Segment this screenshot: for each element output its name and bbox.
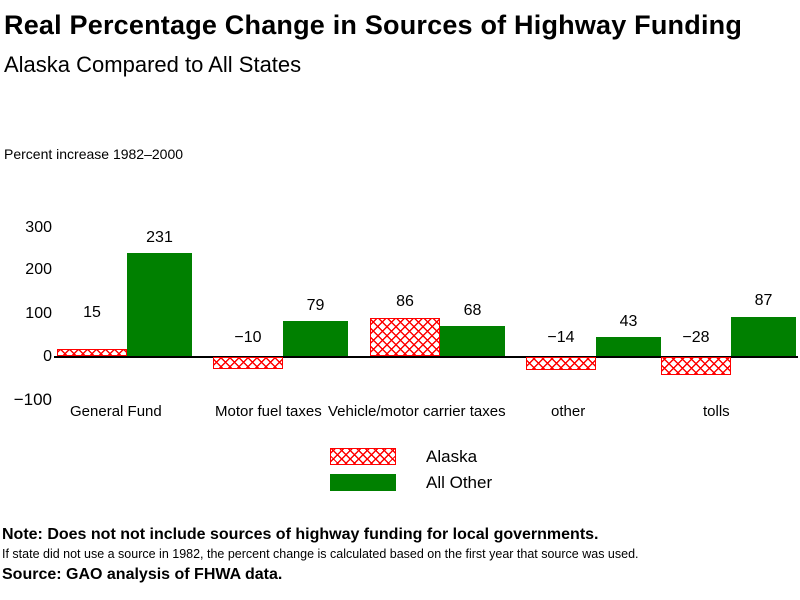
bar-value-alaska-general-fund: 15 [57,305,127,321]
bar-value-alaska-tolls: −28 [661,330,731,346]
cat-label-vehicle-motor-carrier-taxes: Vehicle/motor carrier taxes [328,403,506,421]
bar-value-all-other-other: 43 [596,314,661,330]
bar-value-alaska-vehicle-motor-carrier-taxes: 86 [370,294,440,310]
legend-label-alaska: Alaska [426,447,477,467]
x-axis-category-labels: General Fund Motor fuel taxes Vehicle/mo… [0,403,800,425]
bar-value-all-other-motor-fuel-taxes: 79 [283,298,348,314]
footnote-detail: If state did not use a source in 1982, t… [2,545,800,564]
footnote-source: Source: GAO analysis of FHWA data. [2,564,800,585]
bar-all-other-vehicle-motor-carrier-taxes [440,326,505,356]
bar-all-other-other [596,337,661,356]
footnotes: Note: Does not not include sources of hi… [2,524,800,585]
bar-all-other-tolls [731,317,796,356]
page-title: Real Percentage Change in Sources of Hig… [4,10,742,41]
cat-label-other: other [551,403,585,421]
bar-value-all-other-general-fund: 231 [127,230,192,246]
cat-label-tolls: tolls [703,403,730,421]
chart-legend: Alaska All Other [330,448,660,494]
legend-swatch-all-other [330,474,396,491]
y-axis-caption: Percent increase 1982–2000 [4,146,183,162]
cat-label-motor-fuel-taxes: Motor fuel taxes [215,403,322,421]
bars-layer: 15 231 −10 79 86 68 −14 43 −28 87 [0,200,800,410]
bar-all-other-motor-fuel-taxes [283,321,348,356]
bar-alaska-tolls [661,357,731,375]
chart-page: Real Percentage Change in Sources of Hig… [0,0,800,600]
bar-value-all-other-tolls: 87 [731,293,796,309]
legend-item-all-other: All Other [330,474,660,494]
bar-value-alaska-motor-fuel-taxes: −10 [213,330,283,346]
legend-swatch-alaska [330,448,396,465]
legend-item-alaska: Alaska [330,448,660,468]
bar-alaska-vehicle-motor-carrier-taxes [370,318,440,356]
bar-alaska-motor-fuel-taxes [213,357,283,369]
bar-value-alaska-other: −14 [526,330,596,346]
bar-all-other-general-fund [127,253,192,356]
bar-alaska-other [526,357,596,370]
cat-label-general-fund: General Fund [70,403,162,421]
bar-value-all-other-vehicle-motor-carrier-taxes: 68 [440,303,505,319]
footnote-note: Note: Does not not include sources of hi… [2,524,800,545]
plot-area: 300 200 100 0 −100 15 231 −10 79 86 68 [0,200,800,410]
page-subtitle: Alaska Compared to All States [4,52,301,78]
legend-label-all-other: All Other [426,473,492,493]
bar-alaska-general-fund [57,349,127,356]
